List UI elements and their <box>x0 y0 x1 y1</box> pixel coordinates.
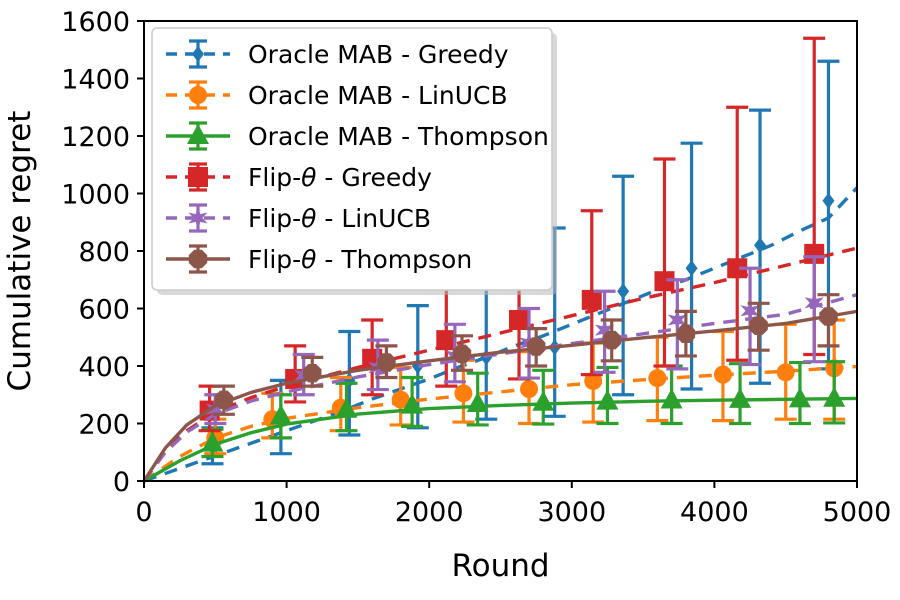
legend-label: Flip-θ - Greedy <box>248 163 432 192</box>
data-marker <box>215 391 233 409</box>
data-marker <box>677 325 695 343</box>
x-tick-label: 0 <box>135 497 152 528</box>
legend-label: Flip-θ - LinUCB <box>248 204 431 233</box>
data-marker <box>777 363 795 381</box>
data-marker <box>520 380 538 398</box>
legend-layer[interactable]: Oracle MAB - GreedyOracle MAB - LinUCBOr… <box>152 28 557 295</box>
y-tick-label: 1200 <box>61 122 130 153</box>
data-marker <box>602 331 620 349</box>
data-marker <box>189 86 207 104</box>
data-marker <box>527 337 545 355</box>
y-axis-title: Cumulative regret <box>2 111 38 392</box>
legend-label: Oracle MAB - LinUCB <box>248 81 508 110</box>
x-tick-label: 5000 <box>823 497 892 528</box>
data-marker <box>509 310 529 330</box>
data-marker <box>749 317 767 335</box>
y-tick-label: 600 <box>78 295 130 326</box>
data-marker <box>303 364 321 382</box>
y-tick-label: 1000 <box>61 180 130 211</box>
y-tick-label: 0 <box>113 467 130 498</box>
legend-label: Oracle MAB - Thompson <box>248 122 549 151</box>
data-marker <box>714 366 732 384</box>
y-tick-label: 1400 <box>61 65 130 96</box>
regret-chart-figure: 0100020003000400050000200400600800100012… <box>0 0 900 600</box>
data-marker <box>648 369 666 387</box>
y-tick-label: 800 <box>78 237 130 268</box>
data-marker <box>189 250 207 268</box>
data-marker <box>819 307 837 325</box>
data-marker <box>377 353 395 371</box>
legend-label: Flip-θ - Thompson <box>248 245 472 274</box>
x-tick-label: 1000 <box>252 497 321 528</box>
data-marker <box>582 290 602 310</box>
x-tick-label: 3000 <box>537 497 606 528</box>
legend-label: Oracle MAB - Greedy <box>248 40 509 69</box>
data-marker <box>188 167 208 187</box>
y-tick-label: 400 <box>78 352 130 383</box>
x-tick-label: 2000 <box>395 497 464 528</box>
cumulative-regret-chart: 0100020003000400050000200400600800100012… <box>0 0 900 600</box>
y-tick-label: 1600 <box>61 7 130 38</box>
y-tick-label: 200 <box>78 410 130 441</box>
x-tick-label: 4000 <box>680 497 749 528</box>
data-marker <box>453 345 471 363</box>
x-axis-title: Round <box>451 548 549 584</box>
